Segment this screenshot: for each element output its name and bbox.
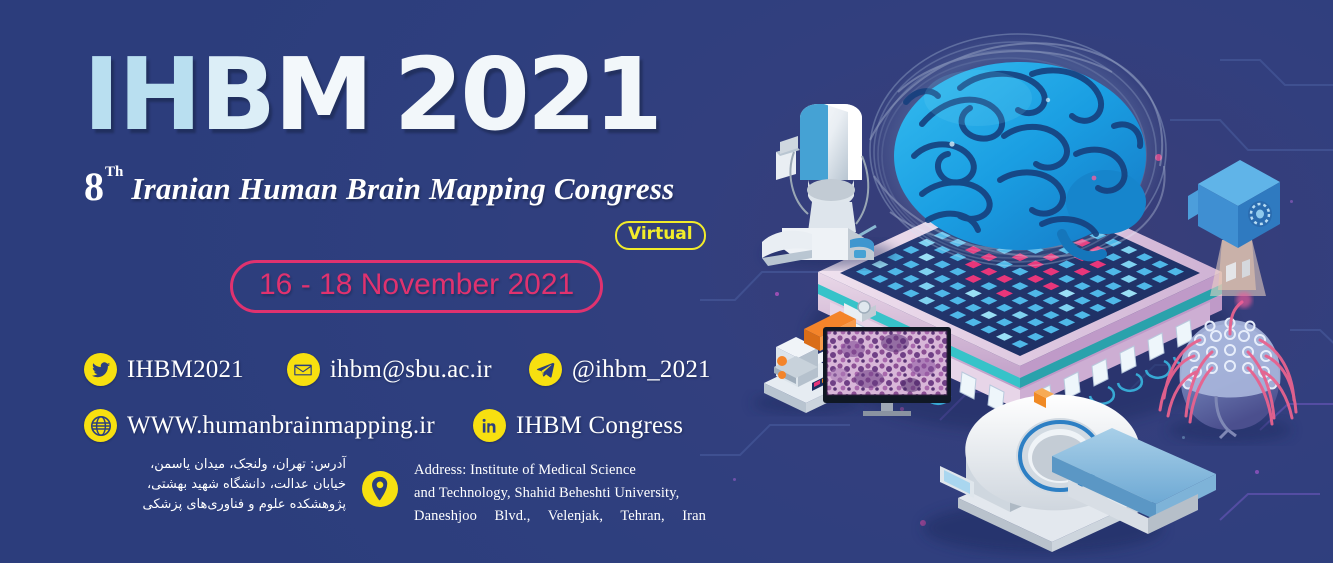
contact-telegram-label: @ihbm_2021 <box>572 356 711 384</box>
ordinal-suffix: Th <box>105 165 123 180</box>
ordinal-number: 8 <box>84 167 104 207</box>
brain-3d-icon <box>868 32 1168 268</box>
illustration-svg <box>700 0 1333 563</box>
twitter-icon <box>84 353 117 386</box>
congress-subtitle: 8 Th Iranian Human Brain Mapping Congres… <box>84 167 674 207</box>
contact-list: IHBM2021 ihbm@sbu.ac.ir @ihbm_2021 <box>84 347 711 448</box>
virtual-badge: Virtual <box>615 221 706 250</box>
contact-linkedin-label: IHBM Congress <box>516 412 683 440</box>
address-english-line: and Technology, Shahid Beheshti Universi… <box>414 482 706 505</box>
contact-website[interactable]: WWW.humanbrainmapping.ir <box>84 409 435 442</box>
email-icon <box>287 353 320 386</box>
address-persian: آدرس: تهران، ولنجک، میدان یاسمن، خیابان … <box>78 455 346 515</box>
contact-email[interactable]: ihbm@sbu.ac.ir <box>287 353 492 386</box>
address-english-line: Address: Institute of Medical Science <box>414 459 706 482</box>
linkedin-icon <box>473 409 506 442</box>
left-text-column: IHBM 2021IHBM 2021 8 Th Iranian Human Br… <box>0 0 730 563</box>
contact-row: IHBM2021 ihbm@sbu.ac.ir @ihbm_2021 <box>84 347 711 392</box>
logo-acronym: IHBM 2021IHBM <box>83 46 372 144</box>
contact-twitter-label: IHBM2021 <box>127 356 244 384</box>
logo-year: 2021 <box>394 46 660 144</box>
illustration-panel <box>700 0 1333 563</box>
contact-email-label: ihbm@sbu.ac.ir <box>330 356 492 384</box>
date-badge: 16 - 18 November 2021 <box>230 260 603 313</box>
address-persian-line: پژوهشکده علوم و فناوری‌های پزشکی <box>78 495 346 515</box>
location-pin-icon <box>362 471 398 507</box>
conference-banner: IHBM 2021IHBM 2021 8 Th Iranian Human Br… <box>0 0 1333 563</box>
address-english: Address: Institute of Medical Science an… <box>414 459 706 529</box>
telegram-icon <box>529 353 562 386</box>
contact-twitter[interactable]: IHBM2021 <box>84 353 244 386</box>
congress-title: Iranian Human Brain Mapping Congress <box>131 173 674 204</box>
event-logo: IHBM 2021IHBM 2021 <box>83 46 660 144</box>
address-persian-line: آدرس: تهران، ولنجک، میدان یاسمن، <box>78 455 346 475</box>
address-english-line: Daneshjoo Blvd., Velenjak, Tehran, Iran <box>414 505 706 528</box>
contact-telegram[interactable]: @ihbm_2021 <box>529 353 711 386</box>
contact-row: WWW.humanbrainmapping.ir IHBM Congress <box>84 403 711 448</box>
globe-icon <box>84 409 117 442</box>
histology-monitor-icon <box>823 327 951 416</box>
contact-linkedin[interactable]: IHBM Congress <box>473 409 683 442</box>
contact-website-label: WWW.humanbrainmapping.ir <box>127 412 435 440</box>
address-block: آدرس: تهران، ولنجک، میدان یاسمن، خیابان … <box>78 455 706 529</box>
address-persian-line: خیابان عدالت، دانشگاه شهید بهشتی، <box>78 475 346 495</box>
